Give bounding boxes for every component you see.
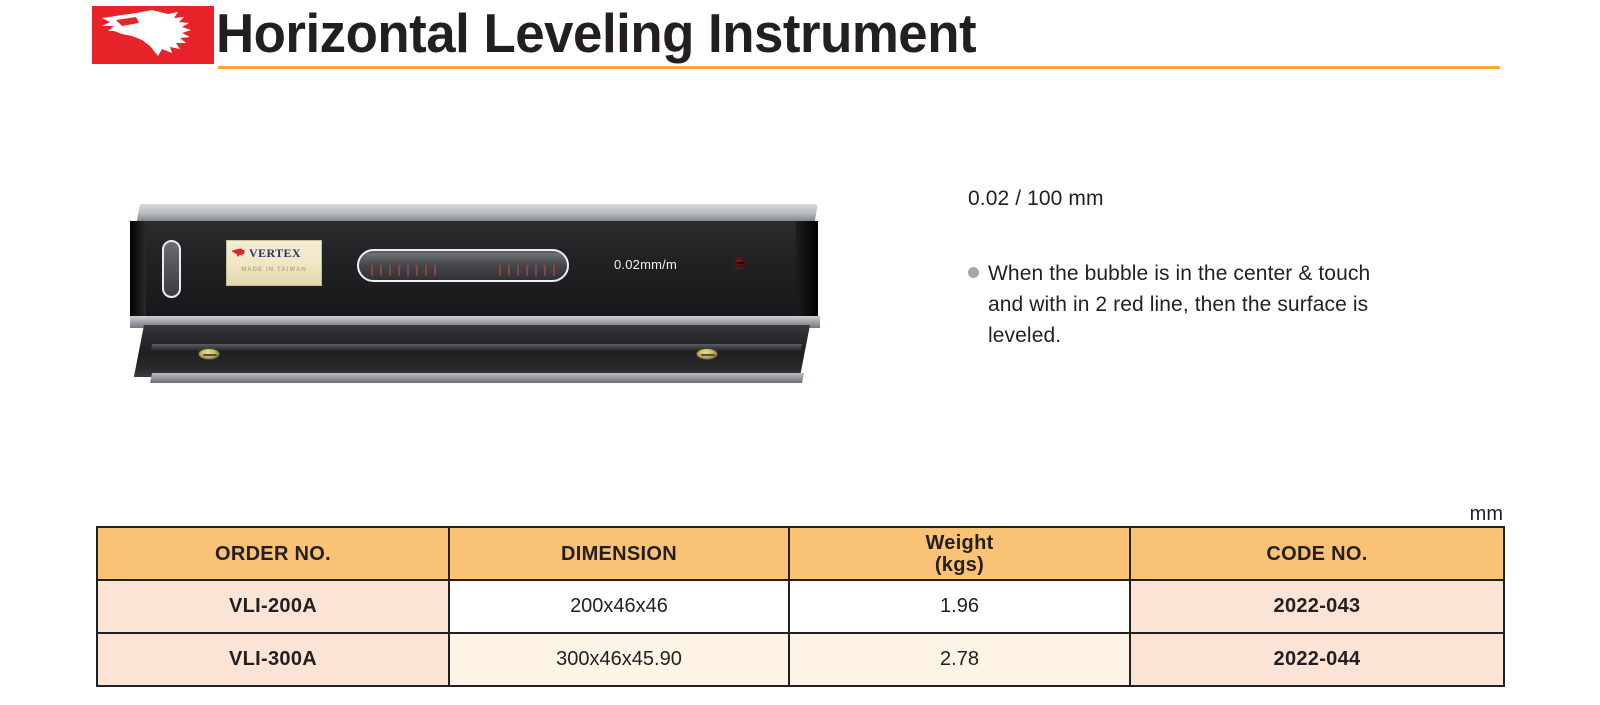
- product-spec-table: ORDER NO. DIMENSION Weight (kgs) CODE NO…: [96, 526, 1505, 687]
- cell-code-no: 2022-044: [1130, 633, 1504, 686]
- title-underline-rule: [218, 66, 1500, 69]
- vial-graduations: [371, 265, 559, 276]
- table-row: VLI-300A 300x46x45.90 2.78 2022-044: [97, 633, 1504, 686]
- cell-weight: 1.96: [789, 580, 1130, 633]
- usage-note: When the bubble is in the center & touch…: [968, 258, 1438, 351]
- vertex-eagle-logo-icon: [92, 6, 214, 64]
- cell-dimension: 300x46x45.90: [449, 633, 789, 686]
- column-header-order-no: ORDER NO.: [97, 527, 449, 580]
- table-units-label: mm: [1330, 503, 1503, 526]
- level-left-end-cap: [130, 221, 146, 321]
- cell-dimension: 200x46x46: [449, 580, 789, 633]
- brand-name-plate: VERTEX MADE IN TAIWAN: [226, 240, 322, 286]
- cell-order-no: VLI-200A: [97, 580, 449, 633]
- cross-test-vial-icon: [162, 240, 181, 298]
- column-header-code-no: CODE NO.: [1130, 527, 1504, 580]
- body-marking-text: 0.02mm/m: [614, 257, 677, 272]
- vertex-eagle-logo-icon: [232, 248, 246, 258]
- specification-panel: 0.02 / 100 mm When the bubble is in the …: [968, 186, 1438, 351]
- base-mounting-screw-icon: [696, 348, 718, 360]
- cell-weight: 2.78: [789, 633, 1130, 686]
- level-base-foot: [150, 373, 804, 383]
- usage-note-text: When the bubble is in the center & touch…: [988, 258, 1408, 351]
- accuracy-value: 0.02 / 100 mm: [968, 186, 1438, 212]
- cell-order-no: VLI-300A: [97, 633, 449, 686]
- level-right-end-cap: [796, 221, 818, 321]
- product-photo: VERTEX MADE IN TAIWAN 0.02mm/m: [122, 196, 822, 401]
- brand-name-text: VERTEX: [249, 248, 301, 258]
- column-header-weight: Weight (kgs): [789, 527, 1130, 580]
- page-header: Horizontal Leveling Instrument: [0, 0, 1600, 80]
- cell-code-no: 2022-043: [1130, 580, 1504, 633]
- adjustment-screw-icon: [734, 257, 746, 269]
- column-header-dimension: DIMENSION: [449, 527, 789, 580]
- table-row: VLI-200A 200x46x46 1.96 2022-043: [97, 580, 1504, 633]
- main-bubble-vial-icon: [357, 249, 569, 282]
- table-header-row: ORDER NO. DIMENSION Weight (kgs) CODE NO…: [97, 527, 1504, 580]
- page-title: Horizontal Leveling Instrument: [216, 2, 976, 64]
- bullet-dot-icon: [968, 267, 979, 278]
- base-mounting-screw-icon: [198, 348, 220, 360]
- origin-text: MADE IN TAIWAN: [227, 267, 321, 273]
